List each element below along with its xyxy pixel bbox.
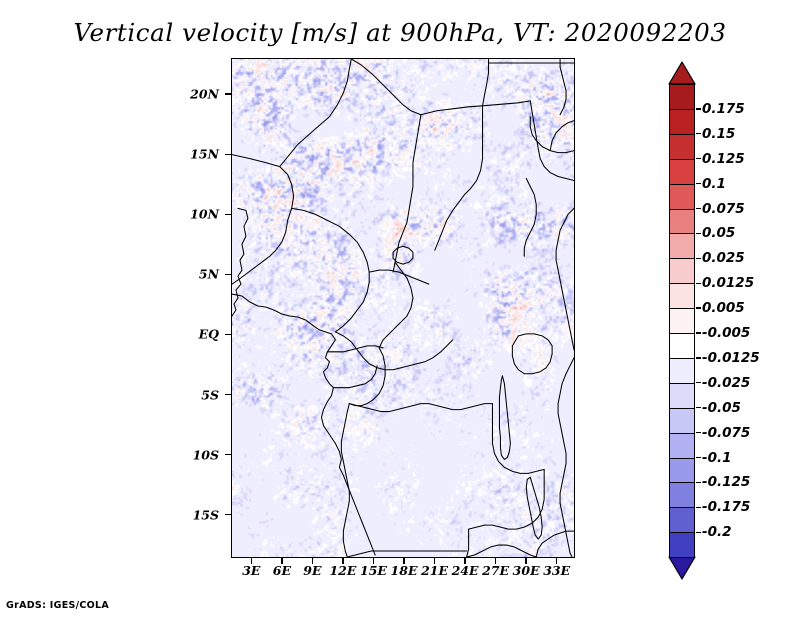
- y-axis-tick: [225, 274, 231, 275]
- page-title: Vertical velocity [m/s] at 900hPa, VT: 2…: [0, 18, 800, 47]
- colorbar-label: -0.05: [702, 400, 741, 416]
- y-axis-tick: [225, 214, 231, 215]
- colorbar-max-arrow: [669, 62, 695, 84]
- colorbar-tick: [696, 283, 701, 284]
- x-axis-label: 27E: [482, 563, 509, 578]
- colorbar-swatch: [669, 233, 695, 259]
- colorbar-label: 0.175: [702, 101, 745, 117]
- colorbar-tick: [696, 307, 701, 308]
- colorbar-tick: [696, 407, 701, 408]
- colorbar-label: -0.025: [702, 375, 750, 391]
- colorbar-tick: [696, 482, 701, 483]
- y-axis-label: 10S: [193, 447, 222, 462]
- y-axis-label: 10N: [190, 207, 222, 222]
- colorbar-tick: [696, 332, 701, 333]
- x-axis-label: 21E: [421, 563, 448, 578]
- colorbar-swatch: [669, 109, 695, 135]
- y-axis-label: EQ: [199, 327, 222, 342]
- colorbar-swatch: [669, 209, 695, 235]
- colorbar-label: 0.125: [702, 151, 745, 167]
- colorbar-swatch: [669, 433, 695, 459]
- colorbar-tick: [696, 183, 701, 184]
- colorbar-label: 0.15: [702, 126, 735, 142]
- colorbar-label: 0.005: [702, 300, 745, 316]
- colorbar-tick: [696, 532, 701, 533]
- colorbar-tick: [696, 258, 701, 259]
- colorbar-tick: [696, 357, 701, 358]
- colorbar-tick: [696, 507, 701, 508]
- x-axis-label: 33E: [543, 563, 570, 578]
- colorbar-swatch: [669, 408, 695, 434]
- colorbar-label: -0.075: [702, 425, 750, 441]
- colorbar-min-arrow: [669, 557, 695, 579]
- y-axis-tick: [225, 154, 231, 155]
- y-axis-tick: [225, 454, 231, 455]
- colorbar-swatch: [669, 84, 695, 110]
- x-axis-label: 24E: [452, 563, 479, 578]
- colorbar-swatch: [669, 507, 695, 533]
- colorbar-swatch: [669, 134, 695, 160]
- map-plot-area: [231, 58, 575, 558]
- colorbar-swatch: [669, 458, 695, 484]
- colorbar-tick: [696, 457, 701, 458]
- y-axis-tick: [225, 93, 231, 94]
- colorbar-label: 0.025: [702, 250, 745, 266]
- colorbar-label: -0.175: [702, 499, 750, 515]
- colorbar-tick: [696, 233, 701, 234]
- figure-canvas: Vertical velocity [m/s] at 900hPa, VT: 2…: [0, 0, 800, 618]
- colorbar-label: 0.05: [702, 225, 735, 241]
- x-axis-label: 18E: [391, 563, 418, 578]
- x-axis-label: 6E: [273, 563, 291, 578]
- y-axis-label: 15N: [190, 147, 222, 162]
- colorbar-swatch: [669, 283, 695, 309]
- colorbar-swatch: [669, 333, 695, 359]
- colorbar-swatch: [669, 383, 695, 409]
- colorbar-label: -0.2: [702, 524, 732, 540]
- colorbar-tick: [696, 432, 701, 433]
- colorbar-tick: [696, 382, 701, 383]
- coastlines-and-borders-overlay: [232, 59, 574, 557]
- y-axis-tick: [225, 394, 231, 395]
- y-axis-tick: [225, 334, 231, 335]
- colorbar-swatch: [669, 532, 695, 558]
- footer-credit: GrADS: IGES/COLA: [6, 600, 109, 611]
- colorbar-label: -0.1: [702, 450, 732, 466]
- colorbar-label: 0.075: [702, 201, 745, 217]
- colorbar-swatch: [669, 482, 695, 508]
- y-axis-label: 5S: [201, 387, 222, 402]
- colorbar-tick: [696, 108, 701, 109]
- colorbar-label: -0.0125: [702, 350, 760, 366]
- colorbar-tick: [696, 133, 701, 134]
- colorbar-swatch: [669, 308, 695, 334]
- colorbar-label: 0.0125: [702, 275, 754, 291]
- colorbar-swatch: [669, 358, 695, 384]
- x-axis-label: 15E: [360, 563, 387, 578]
- colorbar-swatch: [669, 184, 695, 210]
- colorbar-label: 0.1: [702, 176, 726, 192]
- y-axis-tick: [225, 514, 231, 515]
- y-axis-label: 20N: [190, 87, 222, 102]
- colorbar-tick: [696, 208, 701, 209]
- x-axis-label: 9E: [303, 563, 321, 578]
- colorbar-label: -0.005: [702, 325, 750, 341]
- colorbar-swatch: [669, 159, 695, 185]
- colorbar-swatch: [669, 258, 695, 284]
- colorbar-label: -0.125: [702, 474, 750, 490]
- x-axis-label: 3E: [242, 563, 260, 578]
- y-axis-label: 5N: [199, 267, 222, 282]
- x-axis-label: 12E: [329, 563, 356, 578]
- y-axis-label: 15S: [193, 507, 222, 522]
- x-axis-label: 30E: [513, 563, 540, 578]
- colorbar-tick: [696, 158, 701, 159]
